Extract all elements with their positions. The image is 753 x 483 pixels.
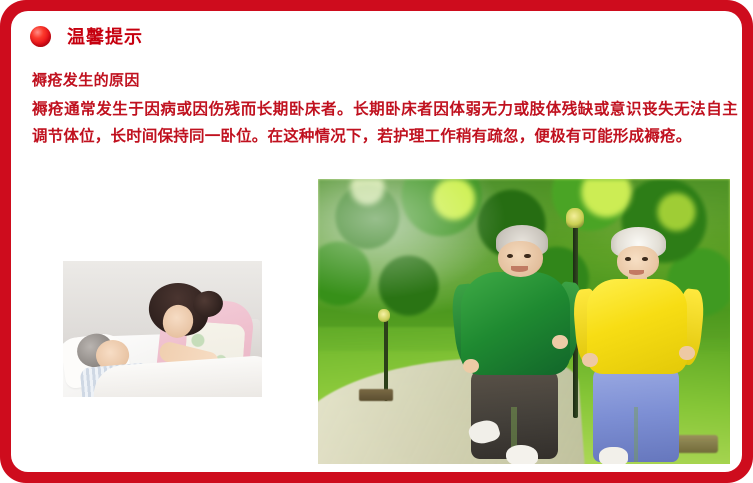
red-sphere-bullet-icon (30, 26, 51, 47)
caregiver-patient-photo (63, 261, 262, 397)
distant-lamp-head (378, 309, 390, 322)
body-paragraph: 褥疮通常发生于因病或因伤残而长期卧床者。长期卧床者因体弱无力或肢体残缺或意识丧失… (32, 96, 738, 150)
man-left-hand (463, 359, 479, 373)
woman-right-eye (642, 257, 648, 261)
page-title: 温馨提示 (67, 23, 143, 49)
man-right-eye (524, 254, 530, 258)
jogging-woman (578, 227, 697, 464)
man-right-hand (552, 335, 568, 349)
park-bench (359, 389, 393, 401)
jogging-man (454, 225, 578, 464)
man-left-eye (507, 254, 513, 258)
card-inner: 温馨提示 褥疮发生的原因 褥疮通常发生于因病或因伤残而长期卧床者。长期卧床者因体… (11, 11, 742, 472)
text-block: 褥疮发生的原因 褥疮通常发生于因病或因伤残而长期卧床者。长期卧床者因体弱无力或肢… (32, 68, 738, 150)
card-header: 温馨提示 (30, 23, 143, 49)
woman-shoe (599, 447, 628, 464)
man-green-sweater (461, 272, 570, 375)
woman-yellow-top (587, 279, 687, 374)
section-subheading: 褥疮发生的原因 (32, 68, 738, 93)
woman-smile (629, 270, 645, 275)
tips-card: 温馨提示 褥疮发生的原因 褥疮通常发生于因病或因伤残而长期卧床者。长期卧床者因体… (0, 0, 753, 483)
woman-left-hand (582, 353, 598, 367)
elderly-couple-jogging-photo (318, 179, 730, 464)
woman-right-hand (679, 346, 695, 360)
man-right-shoe (506, 445, 538, 464)
woman-leg-gap (634, 407, 639, 461)
